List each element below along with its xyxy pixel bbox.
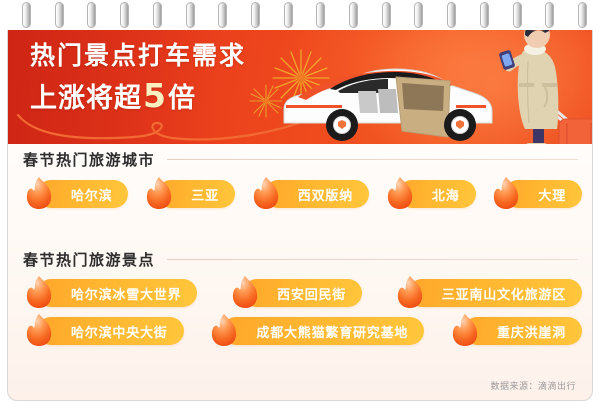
spiral-ring-icon xyxy=(284,2,293,28)
section-cities: 春节热门旅游城市 哈尔滨 xyxy=(8,144,593,208)
spiral-ring-icon xyxy=(480,2,489,28)
banner-headline: 热门景点打车需求 上涨将超5倍 xyxy=(30,43,246,112)
attraction-pill-label: 成都大熊猫繁育研究基地 xyxy=(256,322,408,341)
spiral-ring-icon xyxy=(545,2,554,28)
city-pill[interactable]: 哈尔滨 xyxy=(37,180,128,208)
section-cities-rule xyxy=(167,159,578,160)
city-pill-label: 哈尔滨 xyxy=(71,185,112,204)
section-attractions-rule xyxy=(167,259,578,260)
headline-line-1: 热门景点打车需求 xyxy=(30,43,246,68)
spiral-ring-icon xyxy=(251,2,260,28)
attraction-pill[interactable]: 哈尔滨冰雪大世界 xyxy=(37,279,197,307)
headline-line-2: 上涨将超5倍 xyxy=(30,79,246,112)
infographic-page: 热门景点打车需求 上涨将超5倍 xyxy=(0,0,600,409)
spiral-ring-icon xyxy=(218,2,227,28)
spiral-ring-icon xyxy=(153,2,162,28)
attraction-pill[interactable]: 西安回民街 xyxy=(243,279,362,307)
section-attractions: 春节热门旅游景点 哈尔滨冰雪大世界 xyxy=(8,244,593,345)
section-cities-title: 春节热门旅游城市 xyxy=(23,149,155,170)
flame-icon xyxy=(24,274,54,310)
city-pill-label: 三亚 xyxy=(191,185,219,204)
flame-icon xyxy=(230,274,260,310)
spiral-binding xyxy=(0,0,600,30)
swoosh-decoration-icon xyxy=(14,111,314,144)
spiral-ring-icon xyxy=(186,2,195,28)
flame-icon xyxy=(144,175,174,211)
headline-multiplier-number: 5 xyxy=(142,76,168,115)
attraction-pill-label: 重庆洪崖洞 xyxy=(497,322,566,341)
headline-line-2-prefix: 上涨将超 xyxy=(30,83,142,114)
section-attractions-header: 春节热门旅游景点 xyxy=(8,244,593,274)
headline-line-2-suffix: 倍 xyxy=(168,83,196,114)
banner-header: 热门景点打车需求 上涨将超5倍 xyxy=(8,15,593,144)
section-cities-header: 春节热门旅游城市 xyxy=(8,144,593,174)
attraction-pill[interactable]: 重庆洪崖洞 xyxy=(463,317,582,345)
spiral-ring-icon xyxy=(414,2,423,28)
flame-icon xyxy=(24,312,54,348)
flame-icon xyxy=(385,175,415,211)
city-pill-label: 大理 xyxy=(538,185,566,204)
attractions-pill-row-2: 哈尔滨中央大街 成都大熊猫繁育研究基地 xyxy=(8,317,593,345)
spiral-ring-icon xyxy=(447,2,456,28)
flame-icon xyxy=(209,312,239,348)
spiral-ring-icon xyxy=(87,2,96,28)
city-pill[interactable]: 西双版纳 xyxy=(264,180,369,208)
city-pill[interactable]: 北海 xyxy=(398,180,476,208)
spiral-ring-icon xyxy=(382,2,391,28)
spiral-ring-icon xyxy=(120,2,129,28)
taxi-car-illustration xyxy=(278,53,498,144)
flame-icon xyxy=(450,312,480,348)
attraction-pill[interactable]: 三亚南山文化旅游区 xyxy=(408,279,582,307)
section-attractions-title: 春节热门旅游景点 xyxy=(23,249,155,270)
spiral-ring-icon xyxy=(578,2,587,28)
data-source-note: 数据来源：滴滴出行 xyxy=(490,379,576,392)
flame-icon xyxy=(24,175,54,211)
attraction-pill-label: 西安回民街 xyxy=(277,284,346,303)
city-pill-label: 西双版纳 xyxy=(298,185,353,204)
attraction-pill-label: 三亚南山文化旅游区 xyxy=(442,284,566,303)
flame-icon xyxy=(251,175,281,211)
attractions-pill-row-1: 哈尔滨冰雪大世界 西安回民街 三亚南 xyxy=(8,279,593,307)
spiral-ring-icon xyxy=(55,2,64,28)
cities-pill-row: 哈尔滨 三亚 西双版纳 xyxy=(8,180,593,208)
city-pill-label: 北海 xyxy=(432,185,460,204)
attraction-pill-label: 哈尔滨冰雪大世界 xyxy=(71,284,181,303)
attraction-pill-label: 哈尔滨中央大街 xyxy=(71,322,168,341)
city-pill[interactable]: 三亚 xyxy=(157,180,235,208)
spiral-ring-icon xyxy=(349,2,358,28)
attraction-pill[interactable]: 哈尔滨中央大街 xyxy=(37,317,184,345)
infographic-card: 热门景点打车需求 上涨将超5倍 xyxy=(7,14,593,401)
city-pill[interactable]: 大理 xyxy=(504,180,582,208)
traveler-person-illustration xyxy=(495,15,593,144)
flame-icon xyxy=(491,175,521,211)
spiral-ring-icon xyxy=(513,2,522,28)
attraction-pill[interactable]: 成都大熊猫繁育研究基地 xyxy=(222,317,424,345)
spiral-ring-icon xyxy=(316,2,325,28)
spiral-ring-icon xyxy=(22,2,31,28)
flame-icon xyxy=(395,274,425,310)
